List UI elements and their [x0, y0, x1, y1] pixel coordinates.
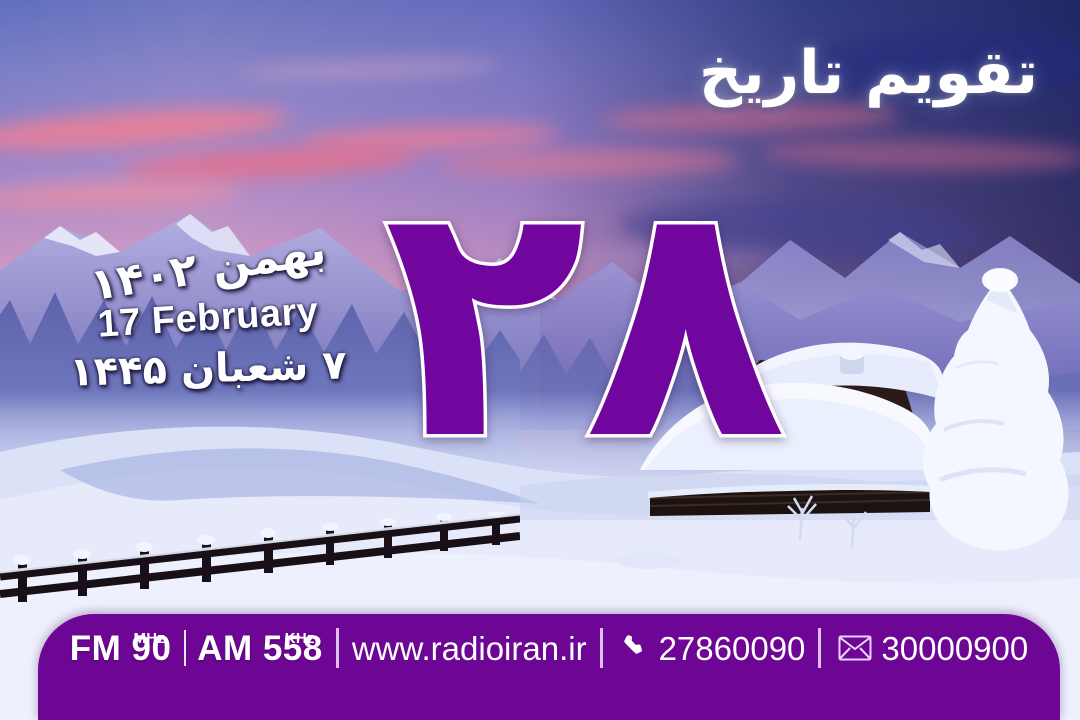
footer-content: FM 90 MHz AM 558 KHz www.radioiran.ir 27… — [38, 628, 1060, 670]
fm-frequency: FM 90 MHz — [70, 629, 173, 669]
am-unit: KHz — [285, 630, 315, 647]
phone-number[interactable]: 27860090 — [659, 630, 806, 668]
fm-unit: MHz — [133, 630, 165, 647]
website-link[interactable]: www.radioiran.ir — [352, 630, 587, 668]
am-frequency: AM 558 KHz — [197, 629, 323, 669]
divider — [184, 630, 186, 666]
phone-icon — [620, 633, 650, 663]
envelope-icon — [838, 635, 872, 661]
sms-number[interactable]: 30000900 — [881, 630, 1028, 668]
date-block: بهمن ۱۴۰۲ 17 February ۷ شعبان ۱۴۴۵ — [58, 242, 358, 392]
day-numeral: ۲۸ — [400, 155, 770, 485]
footer-bar: FM 90 MHz AM 558 KHz www.radioiran.ir 27… — [38, 614, 1060, 720]
wooden-fence — [0, 512, 520, 602]
divider — [600, 628, 603, 668]
page-title: تقویم تاریخ — [699, 38, 1038, 108]
divider — [818, 628, 821, 668]
divider — [336, 628, 339, 668]
hijri-date: ۷ شعبان ۱۴۴۵ — [57, 342, 358, 396]
calendar-card: تقویم تاریخ بهمن ۱۴۰۲ 17 February ۷ شعبا… — [0, 0, 1080, 720]
